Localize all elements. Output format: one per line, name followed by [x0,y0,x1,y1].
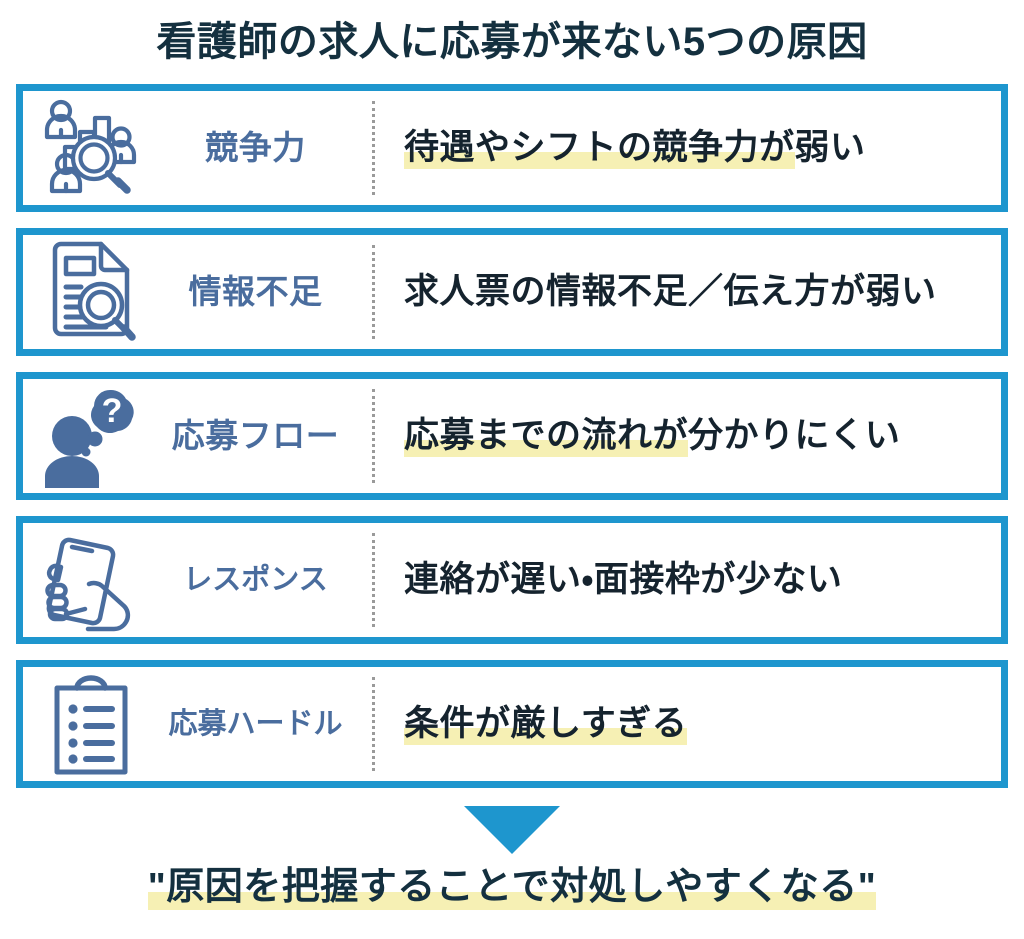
triangle-down-icon [464,806,560,854]
cause-card-list: 競争力 待遇やシフトの競争力が弱い [0,84,1024,788]
card-right-section: 連絡が遅い・面接枠が少ない [372,523,1001,637]
card-description: 求人票の情報不足／伝え方が弱い [404,272,937,312]
card-description: 連絡が遅い・面接枠が少ない [404,560,842,600]
document-magnifier-icon [37,238,145,346]
cause-card: ? 応募フロー 応募までの流れが分かりにくい [16,372,1008,500]
card-right-section: 応募までの流れが分かりにくい [372,379,1001,493]
conclusion-section: "原因を把握することで対処しやすくなる" [0,806,1024,910]
card-description-highlight: 応募までの流れが [404,416,688,457]
card-description-rest: 分かりにくい [688,416,900,455]
card-description-rest: 弱い [795,128,866,167]
clipboard-checklist-icon [37,670,145,778]
card-left-section: 情報不足 [23,235,372,349]
card-left-section: 競争力 [23,91,372,205]
card-description-rest: 求人票の情報不足／伝え方が弱い [404,272,937,311]
card-description-highlight: 条件が厳しすぎる [404,704,687,745]
card-right-section: 条件が厳しすぎる [372,667,1001,781]
page-title: 看護師の求人に応募が来ない5つの原因 [0,0,1024,62]
card-divider [372,677,375,771]
card-label: レスポンス [145,565,372,595]
card-description-highlight: 待遇やシフトの競争力が [404,128,795,169]
card-left-section: ? 応募フロー [23,379,372,493]
card-description: 条件が厳しすぎる [404,704,687,744]
conclusion-highlight: "原因を把握することで対処しやすくなる" [148,866,877,910]
card-divider [372,245,375,339]
card-right-section: 待遇やシフトの競争力が弱い [372,91,1001,205]
card-label: 情報不足 [145,275,372,310]
card-description-rest: 連絡が遅い・面接枠が少ない [404,560,842,599]
card-divider [372,389,375,483]
card-left-section: レスポンス [23,523,372,637]
cause-card: 競争力 待遇やシフトの競争力が弱い [16,84,1008,212]
cause-card: 情報不足 求人票の情報不足／伝え方が弱い [16,228,1008,356]
people-bar-chart-magnifier-icon [37,94,145,202]
card-divider [372,101,375,195]
hand-smartphone-icon [37,526,145,634]
card-divider [372,533,375,627]
card-description: 応募までの流れが分かりにくい [404,416,900,456]
conclusion-text: "原因を把握することで対処しやすくなる" [148,866,877,910]
card-right-section: 求人票の情報不足／伝え方が弱い [372,235,1001,349]
cause-card: 応募ハードル 条件が厳しすぎる [16,660,1008,788]
card-description: 待遇やシフトの競争力が弱い [404,128,866,168]
card-label: 競争力 [145,131,372,166]
person-question-thought-icon: ? [37,382,145,490]
cause-card: レスポンス 連絡が遅い・面接枠が少ない [16,516,1008,644]
svg-text:?: ? [102,392,123,430]
card-label: 応募フロー [145,419,372,454]
card-left-section: 応募ハードル [23,667,372,781]
card-label: 応募ハードル [145,709,372,739]
